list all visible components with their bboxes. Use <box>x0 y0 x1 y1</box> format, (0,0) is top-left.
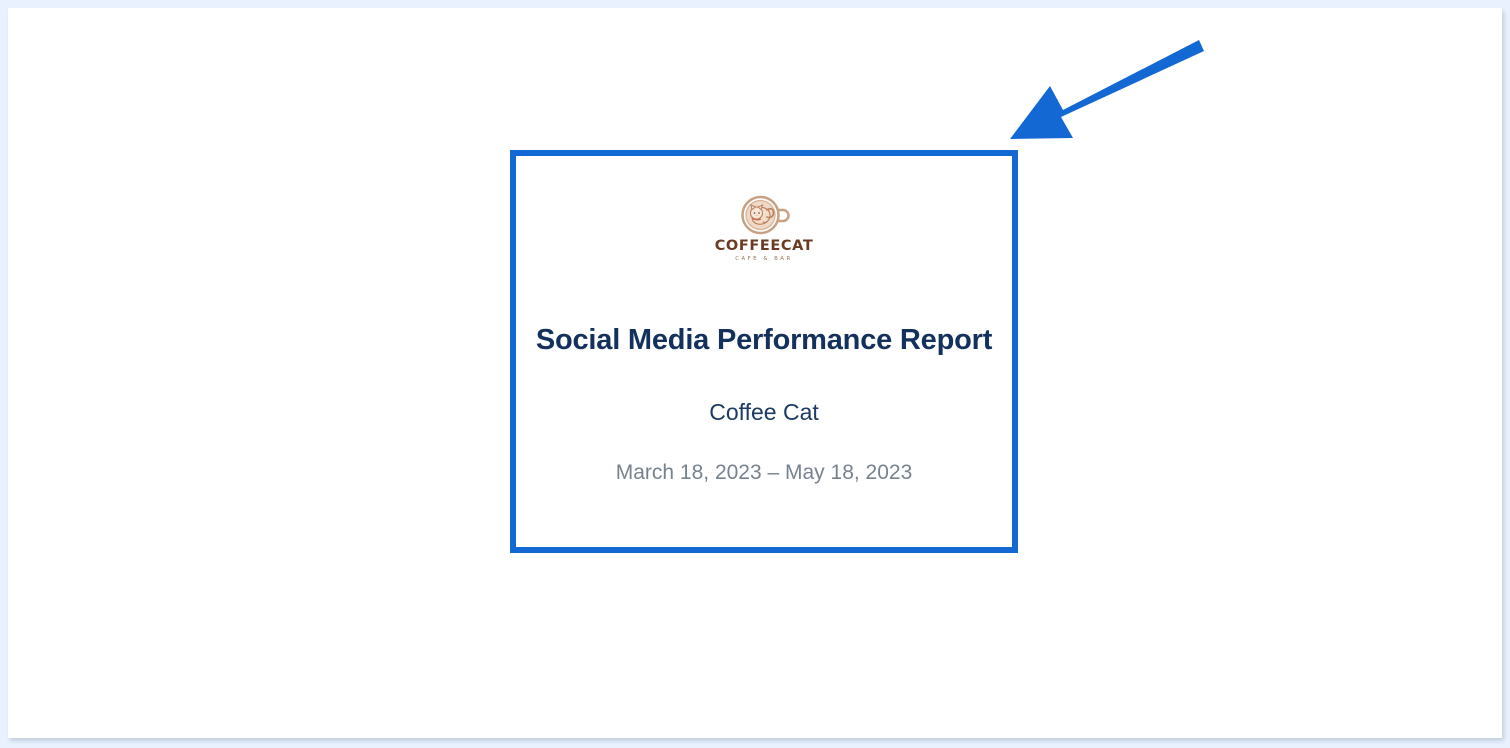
logo-wordmark: COFFEECAT <box>715 239 814 254</box>
document-page: COFFEECAT CAFE & BAR Social Media Perfor… <box>8 8 1502 738</box>
slide-highlight-box[interactable]: COFFEECAT CAFE & BAR Social Media Perfor… <box>510 150 1018 553</box>
logo-tagline: CAFE & BAR <box>735 257 793 262</box>
slide-subtitle: Coffee Cat <box>709 399 819 426</box>
slide-date-range: March 18, 2023 – May 18, 2023 <box>616 461 913 485</box>
coffee-cup-with-cat-icon <box>738 193 790 237</box>
slide-title: Social Media Performance Report <box>536 324 992 357</box>
brand-logo: COFFEECAT CAFE & BAR <box>716 193 812 262</box>
